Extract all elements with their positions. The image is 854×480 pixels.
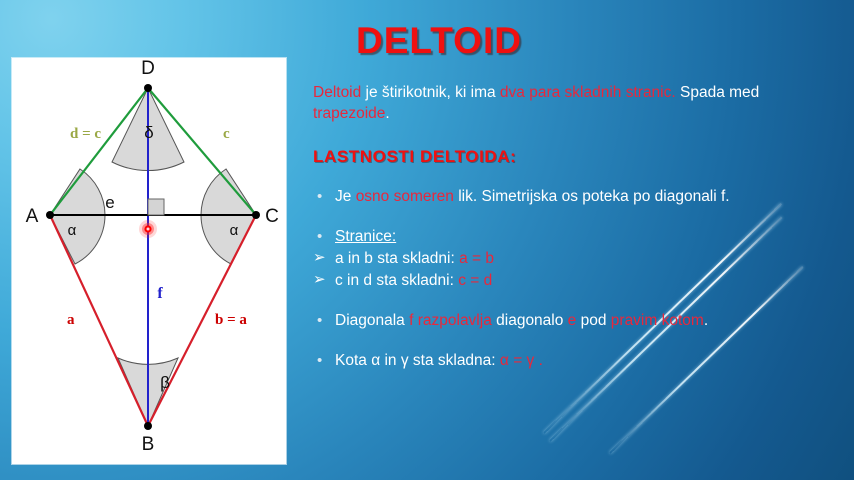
- vertex-label-d: D: [141, 58, 155, 79]
- intro-seg-3: dva para skladnih stranic.: [500, 84, 676, 101]
- side-label-d: d = c: [70, 126, 101, 142]
- angle-label-beta: β: [160, 373, 170, 392]
- bullet-dot-icon: •: [317, 310, 322, 331]
- angle-sector-alpha-left: [50, 169, 105, 215]
- side-label-c: c: [223, 126, 230, 142]
- vertex-label-b: B: [142, 434, 155, 455]
- sub-a-b-formula: a = b: [459, 250, 494, 267]
- vertex-label-a: A: [26, 206, 39, 227]
- section-heading: LASTNOSTI DELTOIDA:: [313, 146, 761, 167]
- angle-sector-alpha-left-lower: [50, 215, 105, 264]
- vertex-dot-d: [144, 84, 152, 92]
- bullet-dot-icon: •: [317, 186, 322, 207]
- side-a-line: [50, 215, 148, 426]
- arrow-right-icon: ➢: [313, 247, 326, 268]
- side-label-a: a: [67, 312, 75, 328]
- page-title: DELTOID: [356, 20, 522, 62]
- intro-seg-2: je štirikotnik, ki ima: [361, 84, 500, 101]
- sub-a-b-text: a in b sta skladni:: [335, 250, 459, 267]
- bullet-dot-icon: •: [317, 350, 322, 371]
- intro-paragraph: Deltoid je štirikotnik, ki ima dva para …: [313, 82, 761, 124]
- sub-c-d-text: c in d sta skladni:: [335, 272, 458, 289]
- center-point-core: [147, 228, 150, 231]
- deltoid-figure: D A C B δ α α β d = c c a b = a e f: [12, 58, 286, 464]
- diagonal-label-f: f: [157, 285, 163, 302]
- right-angle-marker: [148, 199, 164, 215]
- bullet-3-part-7: .: [704, 312, 708, 329]
- content-body: Deltoid je štirikotnik, ki ima dva para …: [313, 82, 761, 371]
- bullet-3-part-1: Diagonala: [335, 312, 409, 329]
- bullet-3-part-6: pravim kotom: [611, 312, 704, 329]
- angle-label-delta: δ: [144, 123, 153, 142]
- bullet-1-part-1: Je: [335, 188, 356, 205]
- deltoid-svg: D A C B δ α α β d = c c a b = a e f: [12, 58, 286, 464]
- angle-label-alpha-left: α: [68, 222, 77, 239]
- sub-item-c-d: ➢ c in d sta skladni: c = d: [313, 270, 761, 291]
- vertex-dot-b: [144, 422, 152, 430]
- sub-c-d-formula: c = d: [458, 272, 492, 289]
- bullet-4-part-2: α = γ .: [500, 352, 543, 369]
- angle-sector-alpha-right-lower: [201, 215, 256, 264]
- arrow-right-icon: ➢: [313, 269, 326, 290]
- diagonal-label-e: e: [105, 193, 114, 212]
- bullet-1-part-2: osno someren: [356, 188, 454, 205]
- side-label-b: b = a: [215, 312, 247, 328]
- bullet-3-part-4: e: [568, 312, 577, 329]
- bullet-3-part-5: pod: [576, 312, 610, 329]
- bullet-dot-icon: •: [317, 226, 322, 247]
- sub-item-a-b: ➢ a in b sta skladni: a = b: [313, 248, 761, 269]
- bullet-3-part-3: diagonalo: [492, 312, 568, 329]
- sides-label: Stranice:: [335, 228, 396, 245]
- bullet-3-part-2: f razpolavlja: [409, 312, 492, 329]
- bullet-1-part-3: lik. Simetrijska os poteka po diagonali …: [454, 188, 730, 205]
- intro-seg-6: .: [385, 105, 389, 122]
- bullet-4-part-1: Kota α in γ sta skladna:: [335, 352, 500, 369]
- vertex-dot-c: [252, 211, 260, 219]
- intro-seg-1: Deltoid: [313, 84, 361, 101]
- intro-seg-4: Spada med: [676, 84, 760, 101]
- vertex-dot-a: [46, 211, 54, 219]
- bullet-item-diagonals: • Diagonala f razpolavlja diagonalo e po…: [313, 310, 761, 331]
- slide-canvas: D A C B δ α α β d = c c a b = a e f DELT…: [0, 0, 854, 480]
- bullet-item-symmetry: • Je osno someren lik. Simetrijska os po…: [313, 186, 761, 207]
- angle-sector-alpha-right: [201, 169, 256, 215]
- bullet-item-sides: • Stranice:: [313, 226, 761, 247]
- vertex-label-c: C: [265, 206, 279, 227]
- bullet-item-angles: • Kota α in γ sta skladna: α = γ .: [313, 350, 761, 371]
- angle-label-alpha-right: α: [230, 222, 239, 239]
- intro-seg-5: trapezoide: [313, 105, 385, 122]
